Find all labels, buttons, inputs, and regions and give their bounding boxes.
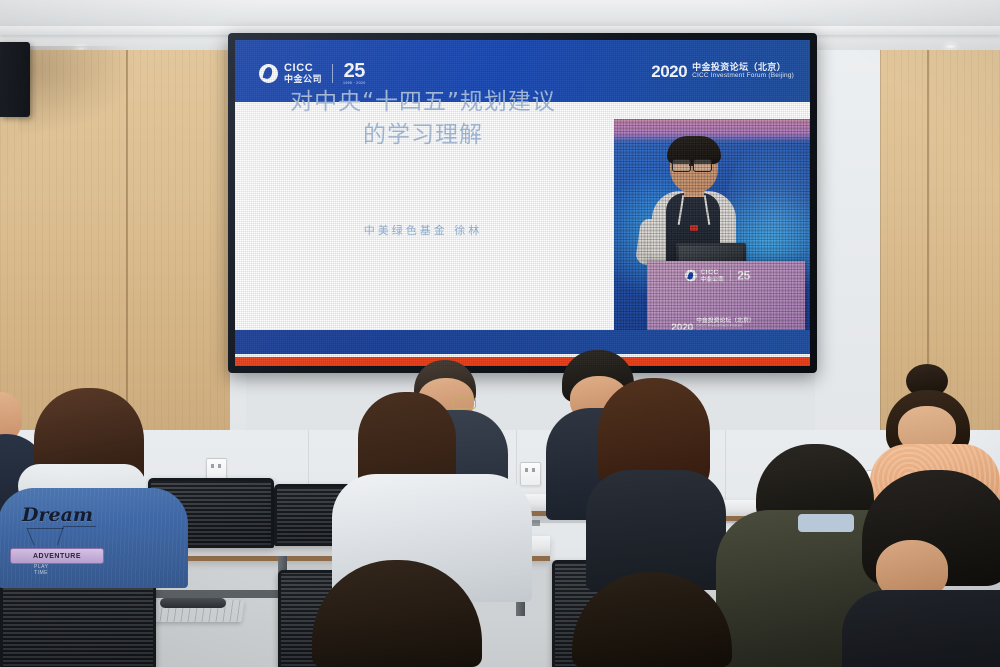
conference-room-photo: CICC 中金公司 25 1995 · 2020 2020 中金投资论坛（北京）… <box>0 0 1000 667</box>
cicc-brand-en: CICC <box>284 63 322 74</box>
anniversary-badge: 25 1995 · 2020 <box>343 61 365 86</box>
wall-white-right <box>815 50 882 490</box>
slide-footer-band <box>235 330 810 354</box>
slide-subtitle: 中美绿色基金 徐林 <box>253 222 593 238</box>
denim-adventure-patch: ADVENTURE <box>10 548 104 564</box>
forum-name-cn: 中金投资论坛（北京） <box>692 62 794 72</box>
cicc-wordmark: CICC 中金公司 <box>284 63 322 84</box>
person-glasses-icon <box>452 398 476 409</box>
cicc-droplet-icon <box>259 64 278 83</box>
downlight-icon <box>944 44 957 49</box>
denim-jacket <box>0 488 188 588</box>
cicc-logo-lockup: CICC 中金公司 25 1995 · 2020 <box>259 61 366 86</box>
forum-title-tag: 2020 中金投资论坛（北京） CICC Investment Forum (B… <box>651 62 794 80</box>
forum-name-block: 中金投资论坛（北京） CICC Investment Forum (Beijin… <box>692 62 794 80</box>
wall-joint-line <box>880 50 881 480</box>
slide-title: 对中央“十四五”规划建议 的学习理解 <box>253 86 593 151</box>
led-display-screen: CICC 中金公司 25 1995 · 2020 2020 中金投资论坛（北京）… <box>228 33 817 373</box>
cicc-brand-cn: 中金公司 <box>284 75 322 84</box>
ceiling-speaker <box>0 42 30 117</box>
presentation-slide: CICC 中金公司 25 1995 · 2020 2020 中金投资论坛（北京）… <box>235 40 810 366</box>
person-shirt-collar <box>798 514 854 532</box>
live-video-inset: CICC 中金公司 25 2020 中金投资论坛（北京） CICC Invest… <box>614 119 810 330</box>
chair-armrest <box>160 598 226 608</box>
forum-name-en: CICC Investment Forum (Beijing) <box>692 72 794 79</box>
anniversary-number: 25 <box>344 61 365 81</box>
slide-accent-bar <box>235 354 810 366</box>
logo-divider <box>332 64 333 83</box>
person-coat <box>842 590 1000 667</box>
forum-year: 2020 <box>651 63 687 80</box>
denim-patch-subtext: PLAY TIME <box>34 564 48 576</box>
wall-shadow <box>18 46 138 136</box>
denim-mountain-embroidery <box>57 526 96 545</box>
power-outlet[interactable] <box>520 462 541 486</box>
denim-script-text: Dream <box>22 504 93 526</box>
video-led-grid <box>614 119 810 330</box>
